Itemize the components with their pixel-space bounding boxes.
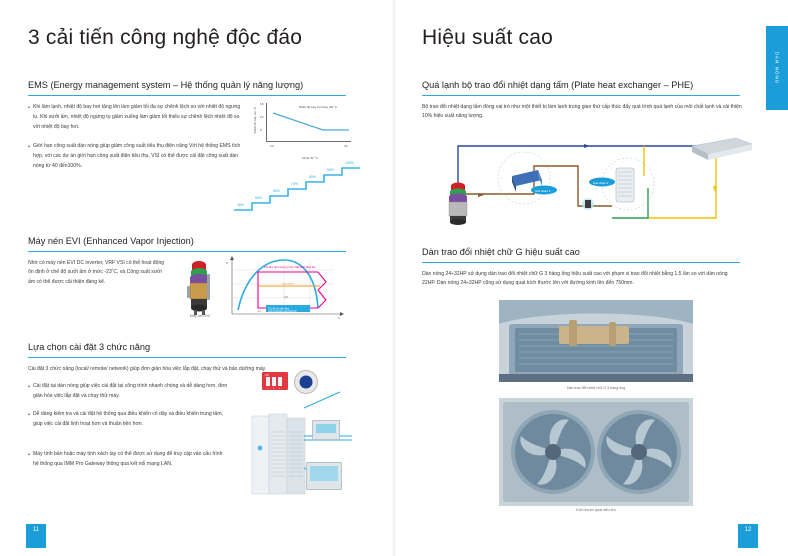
bullet-marker: • <box>28 142 30 153</box>
bullet-3function-1: • Cài đặt tại dàn nóng giúp việc cài đặt… <box>28 382 228 402</box>
paragraph-gcoil: Dàn nóng 24÷32HP sử dụng dàn trao đổi nh… <box>422 270 742 289</box>
bullet-text: Cài đặt tại dàn nóng giúp việc cài đặt t… <box>28 382 228 402</box>
ph-x-axis-label: h <box>338 316 340 320</box>
svg-text:1: 1 <box>267 388 269 390</box>
side-tab-label: DÀN NÓNG <box>775 52 780 85</box>
compressor-icon <box>449 183 467 226</box>
bullet-text: Máy tính bàn hoặc máy tính xách tay có t… <box>28 450 228 470</box>
section-heading-3function: Lựa chọn cài đặt 3 chức năng <box>28 342 150 352</box>
compressor-svg <box>182 256 218 316</box>
photo-caption-g-heat-exchanger: Dàn trao đổi nhiệt chữ G 3 hàng ống <box>499 386 693 390</box>
bullet-ems-2: • Giới hạn công suất dàn nóng giúp giảm … <box>28 142 243 172</box>
dip-switch-graphic: ON 1 2 3 <box>262 372 288 390</box>
page-right: Hiệu suất cao DÀN NÓNG Quá lạnh bộ trao … <box>394 0 788 556</box>
plate-heat-exchanger-2-icon <box>616 168 634 202</box>
svg-text:ON: ON <box>265 374 269 377</box>
step-label-100: 100% <box>345 161 354 165</box>
ph-y-axis-label: P <box>226 261 228 265</box>
section-heading-evi: Máy nén EVI (Enhanced Vapor Injection) <box>28 236 194 246</box>
step-label-50: 50% <box>255 196 262 200</box>
capacity-steps-svg <box>232 158 362 216</box>
connector-arrows <box>300 390 360 510</box>
chart-annotation-title: Nhiệt độ bay hơi thay đổi ˚C <box>294 105 342 110</box>
section-heading-gcoil: Dàn trao đổi nhiệt chữ G hiệu suất cao <box>422 247 580 257</box>
svg-text:EVI: EVI <box>258 311 262 313</box>
page-title-left: 3 cải tiến công nghệ độc đáo <box>28 26 302 50</box>
phe-circuit-svg: Giai đoạn 1 Giai đoạn 2 <box>416 128 766 228</box>
dip-switch-svg: ON 1 2 3 <box>262 372 288 390</box>
page-number-right: 12 <box>738 524 758 548</box>
chart-y-axis-label: Nhiệt độ bay hơi ˚C <box>253 107 257 134</box>
photo-large-fans <box>499 398 693 506</box>
section-rule-evi <box>28 251 346 252</box>
central-controller-graphic <box>306 462 342 490</box>
chart-ph-diagram: Khi làm lạnh lượng môi chất lạnh tăng lê… <box>222 256 346 320</box>
photo-g-heat-exchanger <box>499 300 693 382</box>
paragraph-evi: Nhờ có máy nén EVI DC inverter, VRF VSI … <box>28 259 168 287</box>
bullet-ems-1: • Khi làm lạnh, nhiệt độ bay hơi tăng lê… <box>28 103 243 133</box>
svg-text:3: 3 <box>279 388 281 390</box>
paragraph-phe: Bộ trao đổi nhiệt dạng tấm đóng vai trò … <box>422 103 742 122</box>
chart-x-tick-1: 32 <box>344 144 347 148</box>
bullet-marker: • <box>28 410 30 421</box>
page-title-right: Hiệu suất cao <box>422 26 553 50</box>
chart-y-tick-1: 10 <box>260 115 263 119</box>
bullet-marker: • <box>28 103 30 114</box>
bullet-text: Khi làm lạnh, nhiệt độ bay hơi tăng lên … <box>28 103 243 133</box>
evi-compressor-illustration: Máy nén EVI <box>182 256 218 316</box>
page-gutter <box>393 0 395 556</box>
dial-knob <box>300 376 313 389</box>
phe-circuit-diagram: Giai đoạn 1 Giai đoạn 2 <box>416 128 766 228</box>
photo-caption-large-fans: Kích thước quạt siêu lớn <box>499 508 693 512</box>
indoor-unit-icon <box>692 138 752 160</box>
controller-screen <box>310 466 338 481</box>
step-label-80: 80% <box>309 175 316 179</box>
step-label-60: 60% <box>273 189 280 193</box>
photo-g-heat-exchanger-svg <box>499 300 693 382</box>
chart-evaporating-temperature: Nhiệt độ bay hơi ˚C 15 10 5 10 32 Nhiệt … <box>252 100 357 152</box>
brochure-spread: 3 cải tiến công nghệ độc đáo EMS (Energy… <box>0 0 788 556</box>
step-label-70: 70% <box>291 182 298 186</box>
figure-caption-evi: Máy nén EVI <box>178 314 222 318</box>
bullet-3function-3: • Máy tính bàn hoặc máy tính xách tay có… <box>28 450 228 470</box>
section-side-tab: DÀN NÓNG <box>766 26 788 110</box>
section-rule-3function <box>28 357 346 358</box>
expansion-valve-icon <box>582 198 594 210</box>
step-label-90: 90% <box>327 168 334 172</box>
wired-controller-graphic <box>312 420 340 440</box>
section-heading-ems: EMS (Energy management system – Hệ thống… <box>28 80 303 90</box>
chart-y-tick-0: 15 <box>260 102 263 106</box>
step-label-40: 40% <box>237 203 244 207</box>
paragraph-3function: Cài đặt 3 chức năng (local/ remote/ netw… <box>28 365 338 374</box>
chart-x-tick-0: 10 <box>270 144 273 148</box>
svg-text:Công suất làm lạnh tăng lớn: Công suất làm lạnh tăng lớn <box>268 310 298 313</box>
ph-annotation-2: EVI <box>284 295 288 299</box>
bullet-text: Giới hạn công suất dàn nóng giúp giảm cô… <box>28 142 243 172</box>
ph-annotation-1: Làm lạnh <box>282 282 294 286</box>
ph-annotation-0: Khi làm lạnh lượng môi chất lạnh tăng lê… <box>264 265 316 269</box>
diagram-stage-label-1: Giai đoạn 1 <box>535 189 551 193</box>
bullet-marker: • <box>28 382 30 393</box>
diagram-stage-label-2: Giai đoạn 2 <box>593 181 609 185</box>
fan-right-icon <box>597 410 681 494</box>
page-left: 3 cải tiến công nghệ độc đáo EMS (Energy… <box>0 0 394 556</box>
photo-large-fans-svg <box>499 398 693 506</box>
chart-capacity-steps: 40% 50% 60% 70% 80% 90% 100% <box>232 158 362 216</box>
section-rule-ems <box>28 95 346 96</box>
bullet-3function-2: • Dễ dàng kiểm tra và cài đặt hệ thống q… <box>28 410 228 430</box>
section-rule-gcoil <box>422 262 740 263</box>
chart-y-tick-2: 5 <box>260 128 262 132</box>
controller-screen <box>316 424 336 433</box>
svg-text:2: 2 <box>273 388 275 390</box>
bullet-text: Dễ dàng kiểm tra và cài đặt hệ thống qua… <box>28 410 228 430</box>
bullet-marker: • <box>28 450 30 461</box>
section-heading-phe: Quá lạnh bộ trao đổi nhiệt dạng tấm (Pla… <box>422 80 693 90</box>
ph-diagram-svg: Khi làm lạnh lượng môi chất lạnh tăng lê… <box>222 256 346 320</box>
section-rule-phe <box>422 95 740 96</box>
page-number-left: 11 <box>26 524 46 548</box>
fan-left-icon <box>511 410 595 494</box>
